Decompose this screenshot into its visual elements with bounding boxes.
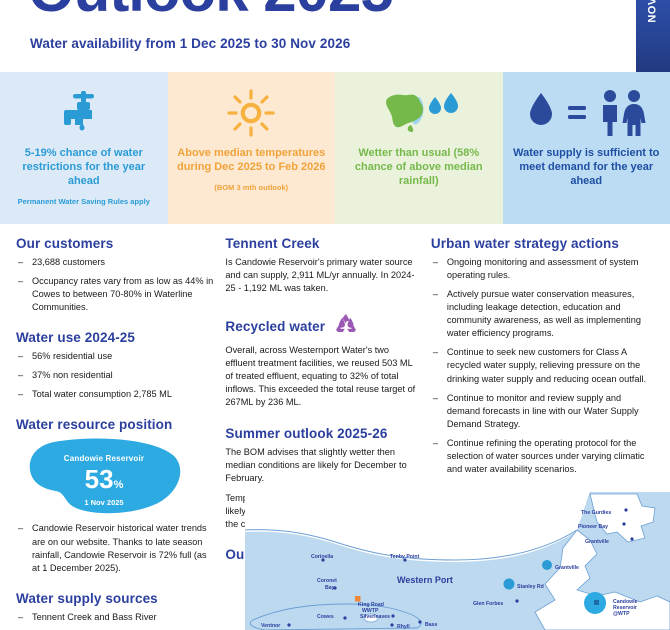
infographic-band: 5-19% chance of water restrictions for t… <box>0 72 670 224</box>
sun-icon <box>223 82 279 144</box>
map-label: Bay <box>325 585 335 591</box>
list-water-use: 56% residential use 37% non residential … <box>16 350 213 401</box>
heading-summer-outlook: Summer outlook 2025-26 <box>225 426 418 441</box>
infographic-main-text: 5-19% chance of water restrictions for t… <box>8 146 160 188</box>
list-item: Continue to seek new customers for Class… <box>431 346 654 385</box>
heading-recycled-water: Recycled water <box>225 319 325 334</box>
heading-tennent-creek: Tennent Creek <box>225 236 418 251</box>
droplet-equals-people-icon <box>521 82 651 144</box>
page-subtitle: Water availability from 1 Dec 2025 to 30… <box>30 36 350 51</box>
list-urban-water-strategy: Ongoing monitoring and assessment of sys… <box>431 256 654 476</box>
map-label: Ventnor <box>261 623 280 629</box>
list-item: 23,688 customers <box>16 256 213 269</box>
map-label: Corinella <box>311 554 333 560</box>
map-label: Coronet <box>317 578 337 584</box>
reservoir-name: Candowie Reservoir <box>24 454 184 463</box>
recycled-water-header: Recycled water <box>225 313 418 340</box>
outlook-infographic-page: Outlook 2025 Water availability from 1 D… <box>0 0 670 630</box>
paragraph-recycled-water: Overall, across Westernport Water's two … <box>225 344 418 409</box>
heading-our-customers: Our customers <box>16 236 213 251</box>
list-water-resource: Candowie Reservoir historical water tren… <box>16 522 213 574</box>
map-label: Cowes <box>317 614 334 620</box>
map-label: Tenby Point <box>390 554 419 560</box>
page-header: Outlook 2025 Water availability from 1 D… <box>0 0 670 72</box>
list-item: Continue to monitor and review supply an… <box>431 392 654 431</box>
map-label: Glen Forbes <box>473 601 503 607</box>
map-label: The Gurdies <box>581 510 611 516</box>
list-item: Tennent Creek and Bass River <box>16 611 213 624</box>
australia-rain-icon <box>373 82 465 144</box>
infographic-sub-text: (BOM 3 mth outlook) <box>214 183 288 193</box>
map-bay-label: Western Port <box>397 575 453 585</box>
tap-icon <box>56 82 112 144</box>
infographic-sub-text: Permanent Water Saving Rules apply <box>18 197 150 207</box>
list-item: Candowie Reservoir historical water tren… <box>16 522 213 574</box>
reservoir-percent: 53% <box>24 466 184 492</box>
infographic-cell-rainfall: Wetter than usual (58% chance of above m… <box>335 72 503 224</box>
heading-water-supply-sources: Water supply sources <box>16 591 213 606</box>
infographic-cell-temperature: Above median temperatures during Dec 202… <box>168 72 336 224</box>
paragraph-tennent-creek: Is Candowie Reservoir's primary water so… <box>225 256 418 295</box>
list-item: Actively pursue water conservation measu… <box>431 288 654 340</box>
infographic-cell-supply: Water supply is sufficient to meet deman… <box>503 72 670 224</box>
list-our-customers: 23,688 customers Occupancy rates vary fr… <box>16 256 213 314</box>
service-area-map: Western Port The GurdiesPioneer BayGrant… <box>245 492 670 630</box>
map-label: Silverleaves <box>360 614 390 620</box>
column-left: Our customers 23,688 customers Occupancy… <box>16 236 213 630</box>
month-side-tab[interactable]: NOV <box>636 0 670 72</box>
reservoir-percent-symbol: % <box>114 479 124 491</box>
map-label: Grantville <box>555 565 579 571</box>
infographic-main-text: Above median temperatures during Dec 202… <box>176 146 328 174</box>
reservoir-date: 1 Nov 2025 <box>24 498 184 507</box>
reservoir-percent-value: 53 <box>85 464 114 494</box>
recycle-icon <box>333 313 359 340</box>
infographic-main-text: Wetter than usual (58% chance of above m… <box>343 146 495 188</box>
heading-urban-water-strategy: Urban water strategy actions <box>431 236 654 251</box>
list-water-supply-sources: Tennent Creek and Bass River Groundwater… <box>16 611 213 630</box>
map-label: Pioneer Bay <box>578 524 608 530</box>
infographic-cell-restrictions: 5-19% chance of water restrictions for t… <box>0 72 168 224</box>
map-label: Rhyll <box>397 624 410 630</box>
page-title: Outlook 2025 <box>28 0 393 25</box>
map-label: Bass <box>425 622 437 628</box>
list-item: Ongoing monitoring and assessment of sys… <box>431 256 654 282</box>
reservoir-level-chart: Candowie Reservoir 53% 1 Nov 2025 <box>24 438 184 516</box>
heading-water-use: Water use 2024-25 <box>16 330 213 345</box>
map-label: Grantville <box>585 539 609 545</box>
list-item: Total water consumption 2,785 ML <box>16 388 213 401</box>
list-item: 56% residential use <box>16 350 213 363</box>
list-item: Continue refining the operating protocol… <box>431 437 654 476</box>
paragraph-summer-outlook-1: The BOM advises that slightly wetter the… <box>225 446 418 485</box>
month-side-tab-label: NOV <box>647 0 659 23</box>
list-item: 37% non residential <box>16 369 213 382</box>
list-item: Occupancy rates vary from as low as 44% … <box>16 275 213 314</box>
heading-water-resource-position: Water resource position <box>16 417 213 432</box>
infographic-main-text: Water supply is sufficient to meet deman… <box>511 146 663 188</box>
map-label: Stanley Rd <box>517 584 544 590</box>
map-label: @WTP <box>613 611 630 617</box>
